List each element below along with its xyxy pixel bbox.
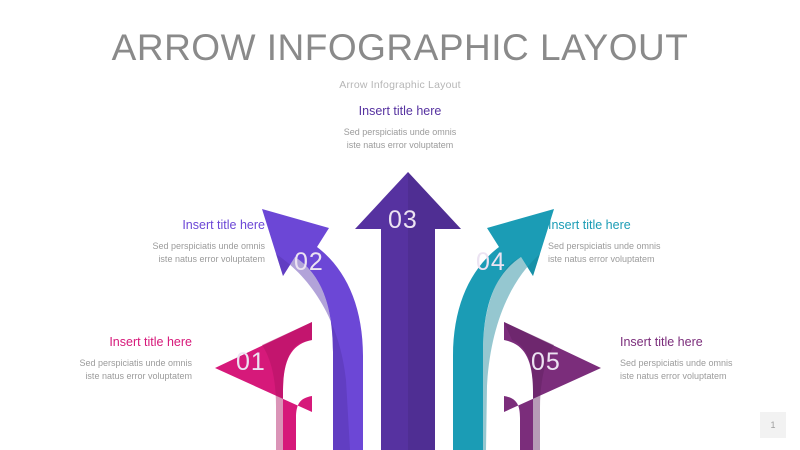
step-title-04: Insert title here (548, 217, 723, 233)
step-body-line-1: Sed perspiciatis unde omnis (305, 126, 495, 139)
step-body-03: Sed perspiciatis unde omnis iste natus e… (305, 126, 495, 152)
page-number-label: 1 (770, 420, 775, 430)
step-body-line-2: iste natus error voluptatem (620, 370, 795, 383)
step-body-line-1: Sed perspiciatis unde omnis (95, 240, 265, 253)
arrow-number-02: 02 (294, 250, 324, 275)
step-body-line-2: iste natus error voluptatem (305, 139, 495, 152)
slide-canvas: ARROW INFOGRAPHIC LAYOUT Arrow Infograph… (0, 0, 800, 450)
step-title-05: Insert title here (620, 334, 795, 350)
step-text-block-05[interactable]: Insert title here Sed perspiciatis unde … (620, 334, 795, 383)
step-text-block-03[interactable]: Insert title here Sed perspiciatis unde … (305, 103, 495, 152)
page-subtitle: Arrow Infographic Layout (0, 79, 800, 91)
step-body-04: Sed perspiciatis unde omnis iste natus e… (548, 240, 723, 266)
step-title-01: Insert title here (22, 334, 192, 350)
arrow-01[interactable] (215, 322, 312, 450)
arrow-05-shade (504, 322, 554, 450)
step-body-line-2: iste natus error voluptatem (548, 253, 723, 266)
step-body-01: Sed perspiciatis unde omnis iste natus e… (22, 357, 192, 383)
arrow-02-body (262, 209, 363, 450)
step-body-02: Sed perspiciatis unde omnis iste natus e… (95, 240, 265, 266)
step-body-line-1: Sed perspiciatis unde omnis (548, 240, 723, 253)
arrow-01-shade (262, 322, 312, 450)
step-body-line-2: iste natus error voluptatem (95, 253, 265, 266)
arrow-04-body (453, 209, 554, 450)
page-title: ARROW INFOGRAPHIC LAYOUT (0, 26, 800, 70)
step-title-03: Insert title here (305, 103, 495, 119)
arrow-05-body (504, 322, 601, 450)
arrow-01-body (215, 322, 312, 450)
step-text-block-01[interactable]: Insert title here Sed perspiciatis unde … (22, 334, 192, 383)
step-title-02: Insert title here (95, 217, 265, 233)
arrow-05[interactable] (504, 322, 601, 450)
arrow-number-04: 04 (476, 250, 506, 275)
step-body-05: Sed perspiciatis unde omnis iste natus e… (620, 357, 795, 383)
step-body-line-1: Sed perspiciatis unde omnis (22, 357, 192, 370)
step-body-line-1: Sed perspiciatis unde omnis (620, 357, 795, 370)
arrow-04[interactable] (453, 209, 554, 450)
arrow-02-shade (276, 254, 350, 450)
step-text-block-04[interactable]: Insert title here Sed perspiciatis unde … (548, 217, 723, 266)
step-text-block-02[interactable]: Insert title here Sed perspiciatis unde … (95, 217, 265, 266)
arrow-number-03: 03 (388, 208, 418, 233)
step-body-line-2: iste natus error voluptatem (22, 370, 192, 383)
arrow-02[interactable] (262, 209, 363, 450)
page-number-badge: 1 (760, 412, 786, 438)
slide-header: ARROW INFOGRAPHIC LAYOUT Arrow Infograph… (0, 26, 800, 91)
arrow-number-05: 05 (531, 350, 561, 375)
arrow-number-01: 01 (236, 350, 266, 375)
